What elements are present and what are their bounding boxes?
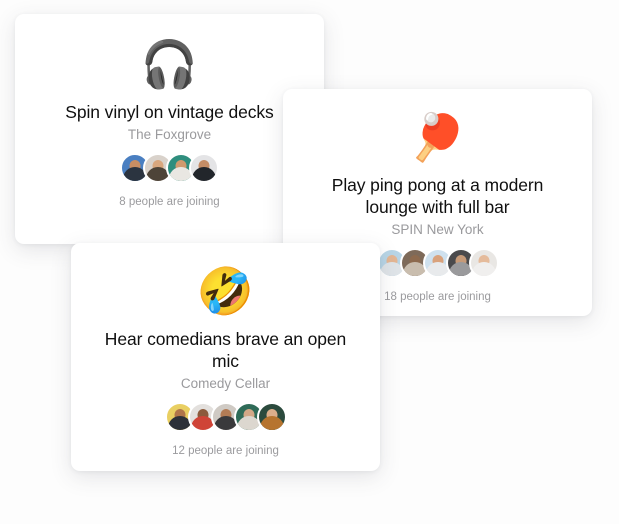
event-card-comedy[interactable]: 🤣 Hear comedians brave an open mic Comed… [71, 243, 380, 471]
event-title: Hear comedians brave an open mic [101, 328, 351, 372]
ping-pong-paddle-emoji: 🏓 [409, 111, 466, 163]
attendee-avatars[interactable] [120, 153, 219, 183]
rolling-on-the-floor-laughing-emoji: 🤣 [197, 265, 254, 317]
avatar [189, 153, 219, 183]
joining-count-label: 18 people are joining [384, 290, 491, 305]
joining-count-label: 12 people are joining [172, 444, 279, 459]
event-card-vinyl[interactable]: 🎧 Spin vinyl on vintage decks The Foxgro… [15, 14, 324, 244]
headphones-emoji: 🎧 [141, 38, 198, 90]
avatar [469, 248, 499, 278]
event-title: Spin vinyl on vintage decks [65, 101, 273, 123]
attendee-avatars[interactable] [165, 402, 287, 432]
event-venue: Comedy Cellar [181, 375, 270, 393]
joining-count-label: 8 people are joining [119, 195, 219, 210]
cards-stage: 🎧 Spin vinyl on vintage decks The Foxgro… [0, 0, 619, 524]
event-venue: The Foxgrove [128, 126, 211, 144]
event-venue: SPIN New York [391, 221, 483, 239]
event-title: Play ping pong at a modern lounge with f… [313, 174, 563, 218]
avatar [257, 402, 287, 432]
attendee-avatars[interactable] [377, 248, 499, 278]
